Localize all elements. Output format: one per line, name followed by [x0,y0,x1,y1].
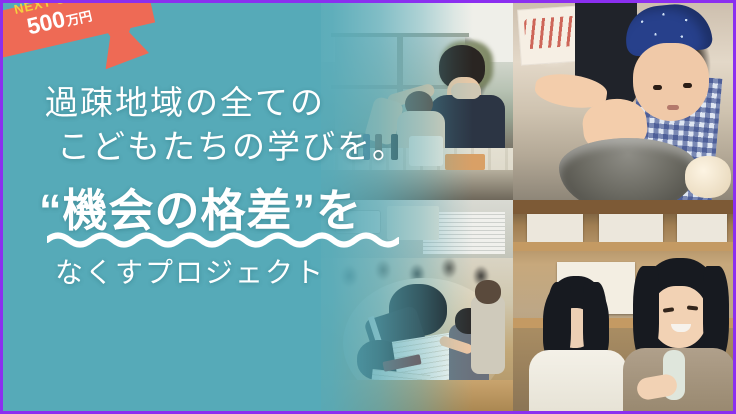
headline-block: 過疎地域の全ての こどもたちの学びを。 “機会の格差”を なくすプロジェクト [45,81,407,291]
headline-line-2: こどもたちの学びを。 [57,125,407,169]
headline-line-1: 過疎地域の全ての [45,81,407,125]
headline-line-4: なくすプロジェクト [55,255,407,291]
hero-banner: NEXT GOAL 500万円 過疎地域の全ての こどもたちの学びを。 “機会の… [0,0,736,414]
headline-emphasis: “機会の格差” [39,185,316,236]
photo-two-girls-talking [513,200,733,414]
headline-particle: を [316,185,362,236]
wavy-underline-icon [47,230,399,248]
headline-emphasis-wrap: “機会の格差”を [39,174,407,239]
photo-child-baking [513,3,733,200]
